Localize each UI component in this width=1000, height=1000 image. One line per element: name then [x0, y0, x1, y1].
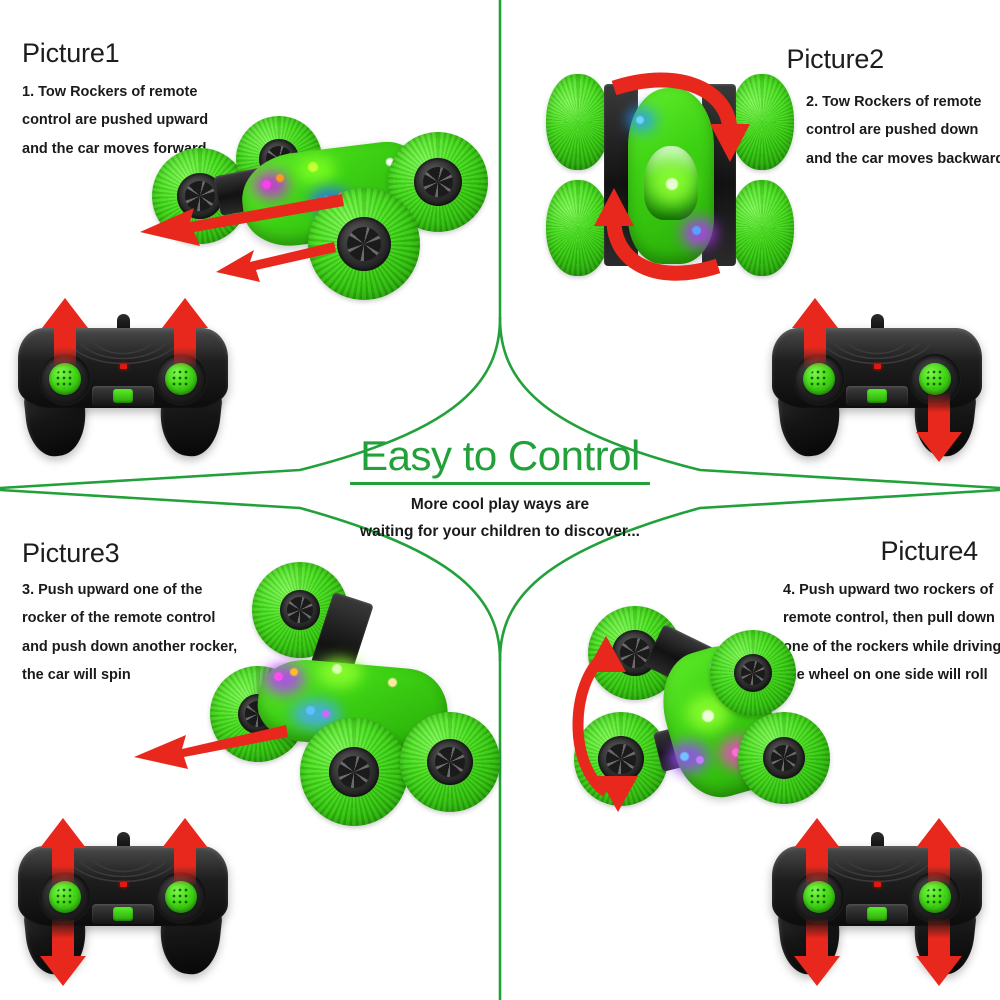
picture4-title: Picture4 [881, 536, 978, 567]
arrow-up-right [916, 818, 962, 886]
arrow-down-right [916, 918, 962, 986]
car-wheel-hub [734, 654, 772, 692]
picture3-motion-arrow [130, 715, 290, 775]
center-callout: Easy to Control More cool play ways are … [300, 434, 700, 545]
picture2-title: Picture2 [787, 44, 884, 75]
car-wheel-hub [414, 158, 462, 206]
picture1-title: Picture1 [22, 38, 119, 69]
car-tyre [300, 718, 408, 826]
car-wheel-hub [280, 590, 320, 630]
center-subtitle: More cool play ways are waiting for your… [300, 491, 700, 545]
picture3-controller-arrows [18, 812, 228, 990]
picture2-body: 2. Tow Rockers of remote control are pus… [806, 88, 1000, 173]
picture3-car [210, 560, 510, 830]
picture3-body: 3. Push upward one of the rocker of the … [22, 576, 237, 689]
picture3-body-line-1: 3. Push upward one of the [22, 576, 237, 604]
car-led [388, 678, 397, 687]
car-led-glow [264, 664, 304, 694]
car-led [332, 664, 342, 674]
power-switch[interactable] [92, 386, 154, 406]
car-wheel-hub [427, 739, 473, 785]
center-subtitle-line-1: More cool play ways are [300, 491, 700, 518]
picture2-rotation-arrows [590, 70, 790, 290]
arrow-up-left [792, 298, 838, 368]
car-tyre [738, 712, 830, 804]
picture3-title: Picture3 [22, 538, 119, 569]
center-subtitle-line-2: waiting for your children to discover... [300, 518, 700, 545]
arrow-down-left [40, 918, 86, 986]
arrow-up-left [42, 298, 88, 368]
rotation-arrowhead-bottom [594, 188, 634, 226]
picture1-controller-arrows [18, 296, 228, 368]
arrow-down-left [794, 918, 840, 986]
arrow-up-right [162, 298, 208, 368]
center-heading: Easy to Control [300, 434, 700, 478]
arrow-up-left [40, 818, 86, 886]
picture3-body-line-4: the car will spin [22, 661, 237, 689]
arrow-up-right [162, 818, 208, 886]
car-led [322, 710, 330, 718]
car-led [308, 162, 318, 172]
picture2-controller-arrows [772, 296, 982, 466]
center-underline [350, 482, 650, 485]
picture2-body-line-1: 2. Tow Rockers of remote [806, 88, 1000, 116]
car-led [696, 756, 704, 764]
arrow-down-right [916, 392, 962, 462]
picture3-body-line-3: and push down another rocker, [22, 633, 237, 661]
motion-arrow [140, 194, 344, 246]
picture1-body-line-1: 1. Tow Rockers of remote [22, 78, 208, 106]
car-led [274, 672, 283, 681]
car-wheel-hub [763, 737, 805, 779]
picture3-body-line-2: rocker of the remote control [22, 604, 237, 632]
picture2-body-line-2: control are pushed down [806, 116, 1000, 144]
roll-arrow-stroke [578, 656, 606, 792]
arrow-up-left [794, 818, 840, 886]
motion-arrow [134, 725, 288, 769]
picture4-controller-arrows [772, 812, 982, 990]
motion-arrow [216, 242, 336, 282]
picture1-motion-arrows [130, 180, 350, 280]
car-tyre [400, 712, 500, 812]
picture2-body-line-3: and the car moves backward [806, 145, 1000, 173]
car-led [702, 710, 714, 722]
picture4-roll-arrow [560, 630, 690, 820]
car-led [290, 668, 298, 676]
rotation-arrowhead-top [710, 124, 750, 162]
car-wheel-hub [329, 747, 379, 797]
car-tyre [710, 630, 796, 716]
infographic-page: Picture1 1. Tow Rockers of remote contro… [0, 0, 1000, 1000]
rotation-arrow-bottom [614, 218, 718, 273]
roll-arrowhead-top [586, 636, 626, 672]
car-led [306, 706, 315, 715]
